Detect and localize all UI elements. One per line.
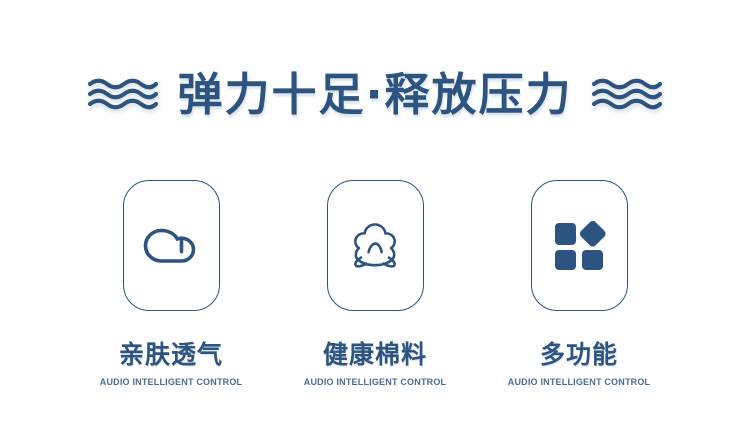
- cloud-icon: [140, 220, 202, 272]
- feature-item-cotton[interactable]: 健康棉料 AUDIO INTELLIGENT CONTROL: [325, 180, 425, 387]
- icon-box-cotton[interactable]: [327, 180, 424, 311]
- feature-subtitle: AUDIO INTELLIGENT CONTROL: [304, 378, 447, 387]
- feature-list: 亲肤透气 AUDIO INTELLIGENT CONTROL: [0, 180, 750, 387]
- multi-function-blocks-icon: [550, 219, 608, 273]
- wave-lines-icon-right: [591, 77, 663, 111]
- cotton-boll-icon: [345, 218, 405, 274]
- feature-subtitle: AUDIO INTELLIGENT CONTROL: [100, 378, 243, 387]
- feature-item-multifunction[interactable]: 多功能 AUDIO INTELLIGENT CONTROL: [529, 180, 629, 387]
- title-row: 弹力十足·释放压力: [0, 58, 750, 130]
- icon-box-multifunction[interactable]: [531, 180, 628, 311]
- feature-subtitle: AUDIO INTELLIGENT CONTROL: [508, 378, 651, 387]
- feature-banner: 弹力十足·释放压力 亲肤透气 AUDIO INTELLIGENT CONTROL: [0, 0, 750, 444]
- icon-box-breathable[interactable]: [123, 180, 220, 311]
- feature-label: 健康棉料: [323, 342, 427, 367]
- feature-item-breathable[interactable]: 亲肤透气 AUDIO INTELLIGENT CONTROL: [121, 180, 221, 387]
- feature-label: 亲肤透气: [119, 342, 223, 367]
- wave-lines-icon-left: [87, 77, 159, 111]
- page-title: 弹力十足·释放压力: [177, 72, 572, 117]
- feature-label: 多功能: [540, 342, 618, 367]
